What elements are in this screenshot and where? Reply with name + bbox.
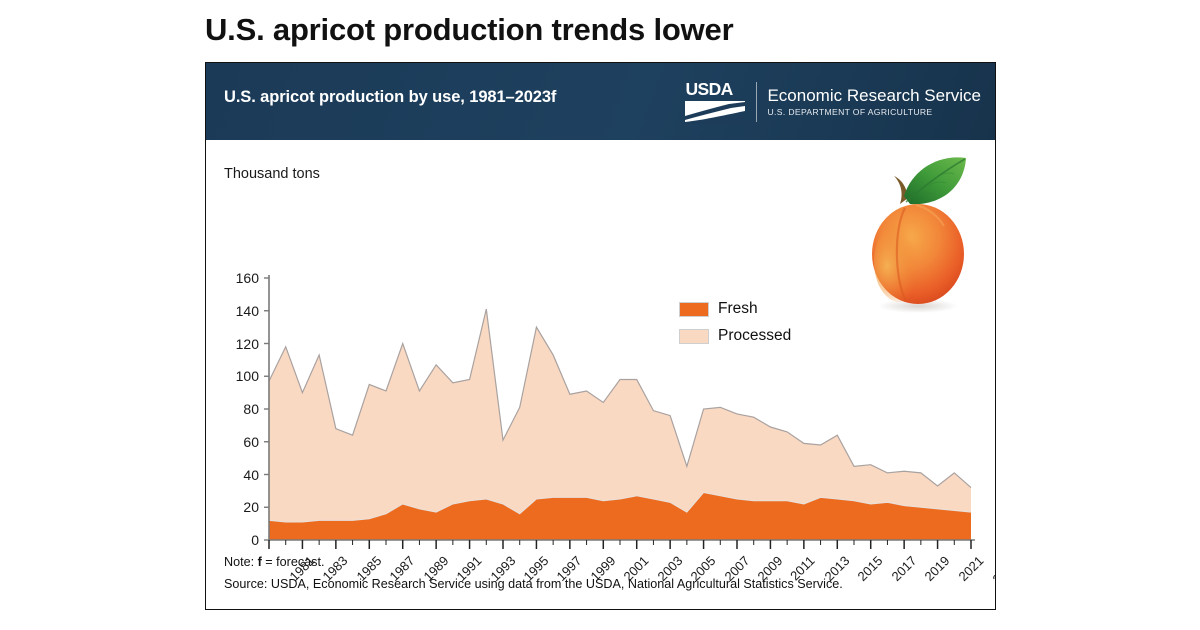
chart-card: U.S. apricot production by use, 1981–202… xyxy=(205,62,996,610)
chart-legend: Fresh Processed xyxy=(679,300,791,354)
chart-body: Thousand tons Fresh Processed xyxy=(206,140,995,610)
y-axis-tick-label: 60 xyxy=(225,435,259,449)
legend-label-fresh: Fresh xyxy=(718,300,758,318)
y-axis-tick-label: 100 xyxy=(225,369,259,383)
y-axis-tick-label: 20 xyxy=(225,500,259,514)
usda-landscape-icon xyxy=(685,101,745,124)
usda-logo: USDA Economic Research Service U.S. DEPA… xyxy=(685,79,981,125)
usda-wordmark: USDA xyxy=(685,80,747,99)
y-axis-tick-label: 160 xyxy=(225,271,259,285)
usda-department-name: U.S. DEPARTMENT OF AGRICULTURE xyxy=(767,106,981,119)
usda-logo-text: Economic Research Service U.S. DEPARTMEN… xyxy=(756,82,981,122)
y-axis-tick-label: 0 xyxy=(225,533,259,547)
y-axis-tick-label: 140 xyxy=(225,304,259,318)
y-axis-tick-label: 120 xyxy=(225,337,259,351)
chart-header-bar: U.S. apricot production by use, 1981–202… xyxy=(206,63,995,140)
page-title: U.S. apricot production trends lower xyxy=(205,6,1005,54)
legend-item-processed: Processed xyxy=(679,327,791,345)
y-axis-tick-label: 40 xyxy=(225,468,259,482)
legend-item-fresh: Fresh xyxy=(679,300,791,318)
page-root: U.S. apricot production trends lower U.S… xyxy=(0,0,1200,630)
apricot-illustration-icon xyxy=(854,146,980,321)
y-axis-tick-label: 80 xyxy=(225,402,259,416)
note-prefix: Note: xyxy=(224,555,258,569)
usda-agency-name: Economic Research Service xyxy=(767,85,981,106)
legend-label-processed: Processed xyxy=(718,327,791,345)
legend-swatch-fresh xyxy=(679,302,709,317)
legend-swatch-processed xyxy=(679,329,709,344)
chart-title: U.S. apricot production by use, 1981–202… xyxy=(224,88,556,107)
usda-mark-icon: USDA xyxy=(685,80,747,124)
